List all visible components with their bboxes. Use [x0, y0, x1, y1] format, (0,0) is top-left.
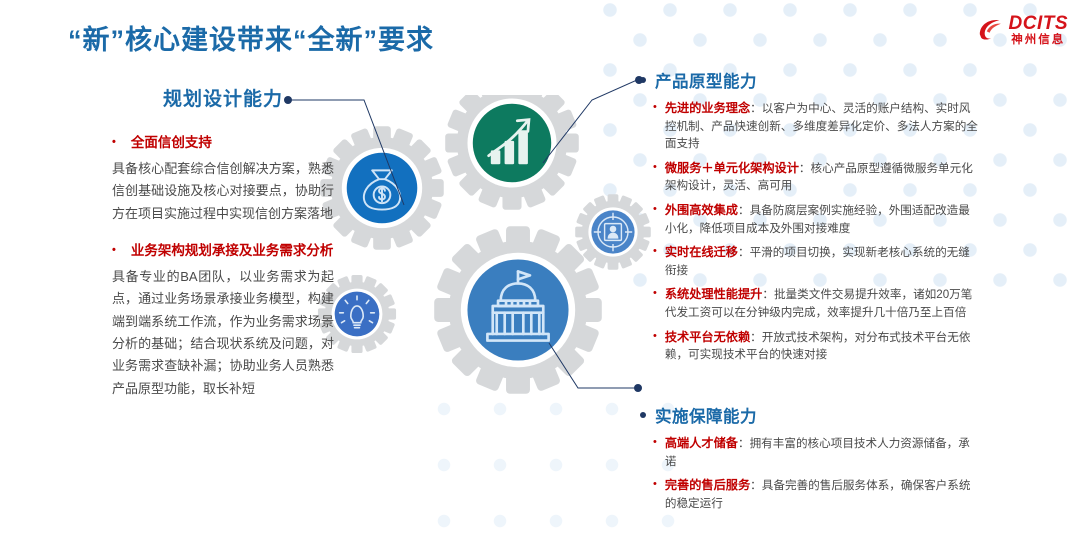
right-group-items-1: • 先进的业务理念：以客户为中心、灵活的账户结构、实时风控机制、产品快速创新、多…	[640, 99, 980, 364]
list-item: • 先进的业务理念：以客户为中心、灵活的账户结构、实时风控机制、产品快速创新、多…	[653, 99, 980, 153]
page-title: “新”核心建设带来“全新”要求	[68, 18, 434, 57]
list-item: • 技术平台无依赖：开放式技术架构，对分布式技术平台无依赖，可实现技术平台的快速…	[653, 328, 980, 364]
left-bullet-heading-2: • 业务架构规划承接及业务需求分析	[112, 241, 334, 262]
list-item: • 微服务＋单元化架构设计：核心产品原型遵循微服务单元化架构设计，灵活、高可用	[653, 159, 980, 195]
left-bullet-body-1: 具备核心配套综合信创解决方案，熟悉信创基础设施及核心对接要点，协助行方在项目实施…	[112, 158, 334, 225]
gear-money-bag	[320, 126, 443, 249]
left-bullet-block-2: • 业务架构规划承接及业务需求分析 具备专业的BA团队，以业务需求为起点，通过业…	[112, 241, 334, 400]
item-term: 技术平台无依赖	[665, 330, 750, 344]
list-item: • 外围高效集成：具备防腐层案例实施经验，外围适配改造最小化，降低项目成本及外围…	[653, 201, 980, 237]
left-bullet-heading-1: • 全面信创支持	[112, 133, 334, 154]
left-bullet-body-2: 具备专业的BA团队，以业务需求为起点，通过业务场景承接业务模型，构建端到端系统工…	[112, 266, 334, 400]
logo-name-cn: 神州信息	[1011, 35, 1065, 47]
item-term: 外围高效集成	[665, 203, 738, 217]
dcits-swirl-icon	[977, 16, 1005, 44]
item-term: 完善的售后服务	[665, 478, 750, 492]
left-bullet-heading-1-text: 全面信创支持	[125, 133, 212, 154]
bullet-dot-icon: •	[112, 133, 116, 153]
gear-cluster-graphic	[300, 95, 670, 425]
list-item: • 实时在线迁移：平滑的项目切换，实现新老核心系统的无缝衔接	[653, 243, 980, 279]
list-item: • 完善的售后服务：具备完善的售后服务体系，确保客户系统的稳定运行	[653, 476, 980, 512]
list-item: • 高端人才储备：拥有丰富的核心项目技术人力资源储备，承诺	[653, 434, 980, 470]
bullet-dot-icon: •	[653, 201, 657, 219]
gear-bank-building	[434, 226, 602, 394]
left-bullet-heading-2-text: 业务架构规划承接及业务需求分析	[125, 241, 334, 262]
bullet-dot-icon: •	[653, 159, 657, 177]
bullet-dot-icon: •	[112, 241, 116, 261]
bullet-dot-icon: •	[653, 99, 657, 117]
right-group-product-prototype: 产品原型能力 • 先进的业务理念：以客户为中心、灵活的账户结构、实时风控机制、产…	[640, 68, 980, 364]
right-group-implementation: 实施保障能力 • 高端人才储备：拥有丰富的核心项目技术人力资源储备，承诺 • 完…	[640, 403, 980, 512]
brand-logo: DCITS 神州信息	[977, 14, 1069, 47]
right-column: 产品原型能力 • 先进的业务理念：以客户为中心、灵活的账户结构、实时风控机制、产…	[640, 68, 980, 518]
left-bullet-block-1: • 全面信创支持 具备核心配套综合信创解决方案，熟悉信创基础设施及核心对接要点，…	[112, 133, 334, 225]
item-term: 高端人才储备	[665, 436, 738, 450]
right-group-title-2: 实施保障能力	[640, 403, 980, 427]
left-column: 规划设计能力 • 全面信创支持 具备核心配套综合信创解决方案，熟悉信创基础设施及…	[112, 84, 334, 416]
bullet-dot-icon: •	[653, 243, 657, 261]
group-spacer	[640, 370, 980, 387]
bullet-dot-icon: •	[653, 328, 657, 346]
item-term: 实时在线迁移	[665, 245, 738, 259]
right-group-items-2: • 高端人才储备：拥有丰富的核心项目技术人力资源储备，承诺 • 完善的售后服务：…	[640, 434, 980, 512]
gear-growth-chart	[445, 95, 579, 210]
bullet-dot-icon: •	[653, 476, 657, 494]
bullet-dot-icon: •	[653, 285, 657, 303]
right-group-title-1: 产品原型能力	[640, 68, 980, 92]
item-term: 系统处理性能提升	[665, 287, 763, 301]
logo-name-en: DCITS	[1009, 14, 1069, 33]
left-section-title: 规划设计能力	[112, 84, 334, 111]
item-term: 微服务＋单元化架构设计	[665, 161, 799, 175]
bullet-dot-icon: •	[653, 434, 657, 452]
list-item: • 系统处理性能提升：批量类文件交易提升效率，诸如20万笔代发工资可以在分钟级内…	[653, 285, 980, 321]
item-term: 先进的业务理念	[665, 101, 750, 115]
